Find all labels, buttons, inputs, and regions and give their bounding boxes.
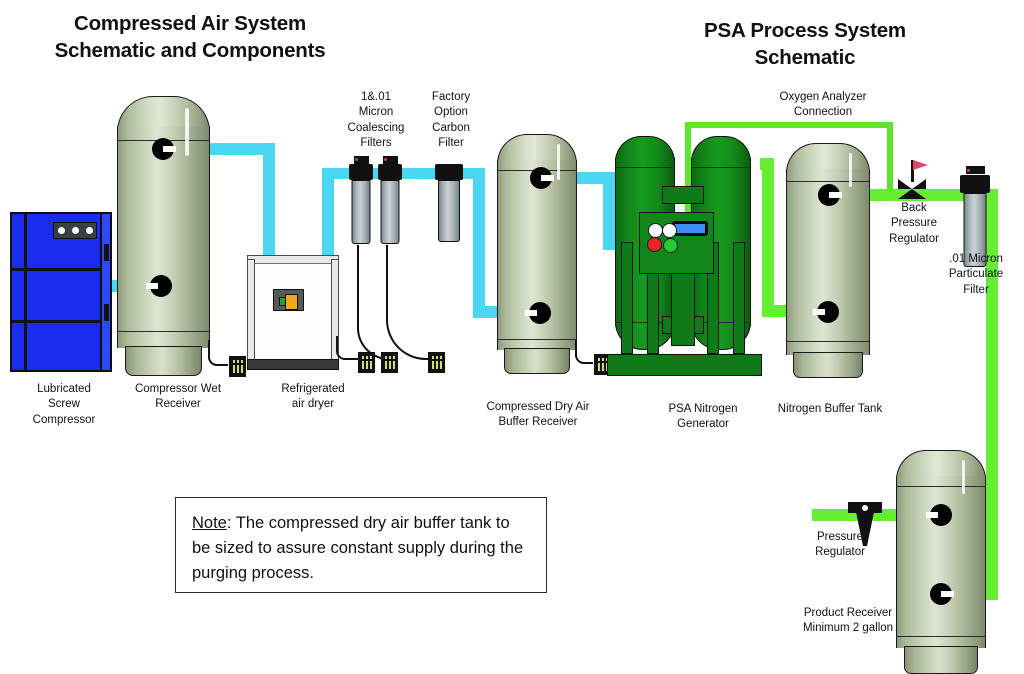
psa-button-green[interactable] [663,238,678,253]
nitrogen-buffer-inlet-nozzle [817,301,839,323]
compressor-led-3 [86,227,93,234]
particulate-filter-head [960,175,990,193]
caption-lubricated-screw-compressor: Lubricated Screw Compressor [14,382,114,428]
oxygen-analyzer-line-vertical-right [887,122,893,192]
pipe-carbon-to-buffer-riser [473,168,485,312]
wet-receiver-drain-hose [208,340,228,366]
pipe-wet-receiver-to-dryer-vertical [263,143,275,258]
psa-upper-manifold [662,186,704,204]
psa-vessel-right-seam-top [691,167,751,168]
coalescing-filter-1-bowl [352,180,371,244]
lubricated-screw-compressor[interactable] [10,212,115,372]
dryer-drain-trap[interactable] [358,352,375,373]
compressor-latch-lower[interactable] [104,304,109,321]
nitrogen-buffer-seam-bottom [786,341,870,342]
caption-oxygen-analyzer-connection: Oxygen Analyzer Connection [758,90,888,121]
psa-control-panel[interactable] [639,212,714,274]
caption-nitrogen-buffer-tank: Nitrogen Buffer Tank [770,402,890,417]
carbon-filter-head [435,164,463,180]
nitrogen-buffer-outlet-nozzle [818,184,840,206]
product-receiver[interactable] [896,450,986,674]
coalescing-filter-2[interactable] [378,164,402,246]
dryer-left-rail [247,259,255,363]
dryer-cabinet [252,263,334,360]
dry-air-buffer-drain-hose [575,340,593,364]
right-diagram-title: PSA Process System Schematic [650,17,960,71]
dryer-status-indicator-amber [285,294,298,310]
compressor-indicator-lights[interactable] [53,222,97,239]
caption-product-receiver: Product Receiver Minimum 2 gallon [786,606,910,637]
back-pressure-regulator[interactable] [896,160,930,200]
caption-coalescing-filters: 1&.01 Micron Coalescing Filters [343,90,409,152]
particulate-filter-indicator [967,169,970,172]
coalescing-filter-1-drain-hose [357,245,389,360]
coalescing-filter-2-drain-hose [386,245,434,360]
note-text: The compressed dry air buffer tank to be… [192,514,523,582]
product-receiver-inlet-nozzle [930,504,952,526]
psa-button-red[interactable] [647,237,662,252]
caption-carbon-filter: Factory Option Carbon Filter [420,90,482,152]
pipe-psa-to-n2buffer-riser [762,158,774,310]
left-diagram-title: Compressed Air System Schematic and Comp… [20,10,360,64]
product-receiver-highlight [962,460,965,494]
dryer-base [247,359,339,370]
psa-vessel-left-seam-top [615,167,675,168]
wet-receiver-skirt [125,346,202,376]
nitrogen-buffer-tank[interactable] [786,143,870,378]
dryer-control-panel[interactable] [273,289,304,311]
coalescing-filter-2-bowl [381,180,400,244]
product-receiver-outlet-nozzle [930,583,952,605]
psa-hmi-display[interactable] [672,221,708,236]
caption-compressor-wet-receiver: Compressor Wet Receiver [118,382,238,413]
caption-dry-air-buffer-receiver: Compressed Dry Air Buffer Receiver [478,400,598,431]
psa-leg-left [621,242,633,354]
coalescing-filter-2-drain-trap[interactable] [428,352,445,373]
psa-button-white-2[interactable] [662,223,677,238]
back-pressure-regulator-valve-icon [896,177,930,201]
note-prefix: Note [192,514,227,532]
compressor-edge-stripe [24,212,27,372]
psa-nitrogen-generator[interactable] [607,136,762,382]
psa-base-skid [607,354,762,376]
back-pressure-regulator-flag-icon [913,160,928,170]
dry-air-buffer-skirt [504,348,570,374]
nitrogen-buffer-skirt [793,352,863,378]
product-receiver-seam-top [896,486,986,487]
note-colon: : [227,514,236,532]
compressor-led-1 [58,227,65,234]
coalescing-filter-1-drain-trap[interactable] [381,352,398,373]
caption-particulate-filter: .01 Micron Particulate Filter [934,252,1018,298]
wet-receiver-seam-bottom [117,331,210,332]
compressor-latch-upper[interactable] [104,244,109,261]
caption-refrigerated-air-dryer: Refrigerated air dryer [258,382,368,413]
coalescing-filter-1[interactable] [349,164,373,246]
nitrogen-buffer-seam-top [786,181,870,182]
dry-air-buffer-inlet-nozzle [529,302,551,324]
note-box: Note: The compressed dry air buffer tank… [175,497,547,593]
product-receiver-skirt [904,646,978,674]
schematic-canvas: Compressed Air System Schematic and Comp… [0,0,1024,674]
dryer-drain-hose [336,336,358,360]
nitrogen-buffer-highlight [849,153,852,187]
wet-receiver-outlet-nozzle [152,138,174,160]
psa-button-white-1[interactable] [648,223,663,238]
carbon-filter-bowl [438,180,460,242]
wet-receiver-drain-trap[interactable] [229,356,246,377]
coalescing-filter-2-indicator [384,158,387,161]
psa-leg-right-2 [733,242,745,354]
wet-receiver-highlight [185,108,189,156]
coalescing-filter-2-head [378,164,402,180]
caption-back-pressure-regulator: Back Pressure Regulator [876,201,952,247]
caption-pressure-regulator: Pressure Regulator [800,530,880,561]
pipe-dryer-riser [322,168,334,260]
wet-receiver-inlet-nozzle [150,275,172,297]
coalescing-filter-1-indicator [355,158,358,161]
dry-air-buffer-outlet-nozzle [530,167,552,189]
refrigerated-air-dryer[interactable] [247,255,339,373]
coalescing-filter-1-head [349,164,373,180]
caption-psa-nitrogen-generator: PSA Nitrogen Generator [648,402,758,433]
dry-air-buffer-highlight [557,144,560,180]
compressor-led-2 [72,227,79,234]
carbon-filter[interactable] [435,164,463,246]
oxygen-analyzer-line-horizontal [685,122,893,128]
dry-air-buffer-seam-bottom [497,339,577,340]
